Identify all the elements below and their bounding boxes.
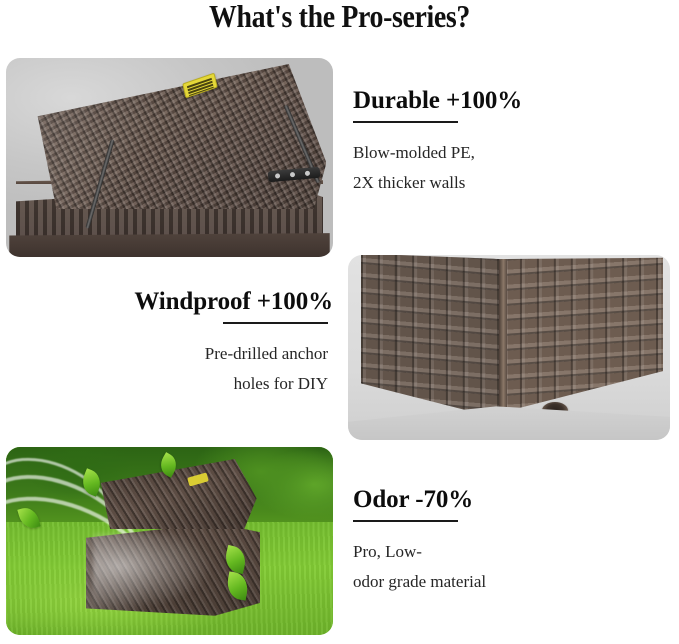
feature-windproof-body-line1: Pre-drilled anchor — [0, 340, 333, 368]
deck-box-outdoor-lid — [101, 459, 257, 529]
promo-page: What's the Pro-series? Durable +100% Blo… — [0, 0, 679, 644]
photo-open-lid — [6, 58, 333, 257]
feature-durable: Durable +100% Blow-molded PE, 2X thicker… — [353, 88, 522, 196]
feature-durable-body-line1: Blow-molded PE, — [353, 139, 522, 167]
page-title: What's the Pro-series? — [44, 0, 635, 35]
deck-box-lid — [13, 64, 327, 209]
freshness-mist — [93, 533, 226, 616]
box-corner-body — [361, 259, 664, 426]
feature-durable-heading: Durable +100% — [353, 88, 522, 114]
feature-durable-rule — [353, 121, 458, 123]
feature-windproof-body-line2: holes for DIY — [0, 370, 333, 398]
feature-windproof-heading: Windproof +100% — [0, 289, 333, 315]
feature-odor-body-line2: odor grade material — [353, 568, 486, 596]
photo-corner-closeup — [348, 255, 670, 440]
corner-edge — [499, 259, 507, 419]
feature-odor-rule — [353, 520, 458, 522]
rattan-weave-right-face — [503, 255, 663, 425]
rattan-weave-left-face — [361, 255, 500, 425]
feature-windproof: Windproof +100% Pre-drilled anchor holes… — [0, 289, 333, 397]
photo-lawn-scene — [6, 447, 333, 635]
feature-odor: Odor -70% Pro, Low- odor grade material — [353, 487, 486, 595]
feature-windproof-rule — [223, 322, 328, 324]
feature-odor-body-line1: Pro, Low- — [353, 538, 486, 566]
feature-durable-body-line2: 2X thicker walls — [353, 169, 522, 197]
deck-box-base — [9, 233, 329, 257]
feature-odor-heading: Odor -70% — [353, 487, 486, 513]
